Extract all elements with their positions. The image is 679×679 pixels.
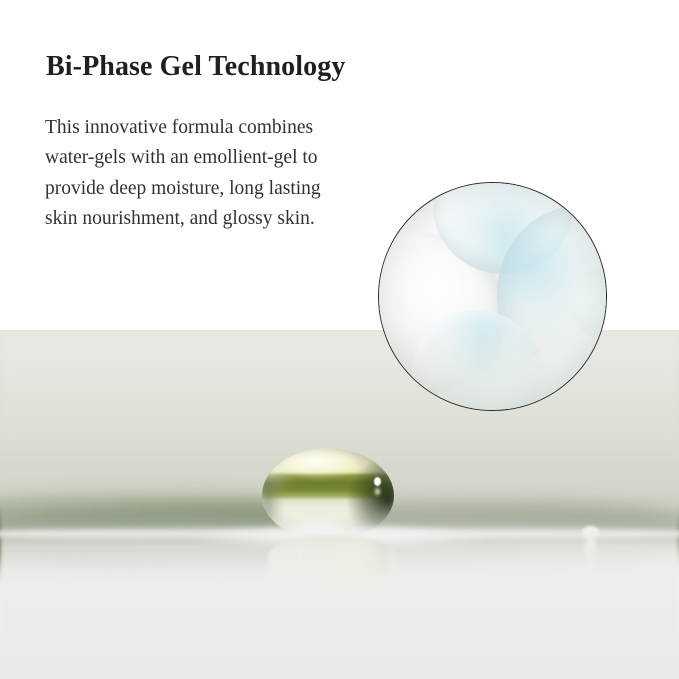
description-text: This innovative formula combines water-g…: [45, 113, 355, 235]
droplet-top-highlight: [283, 452, 357, 476]
droplet-specular-dot: [374, 477, 381, 486]
product-feature-card: Bi-Phase Gel Technology This innovative …: [0, 0, 679, 679]
page-title: Bi-Phase Gel Technology: [46, 52, 345, 83]
gel-macro-inset: [378, 182, 607, 411]
foreground-plane: [0, 499, 679, 679]
